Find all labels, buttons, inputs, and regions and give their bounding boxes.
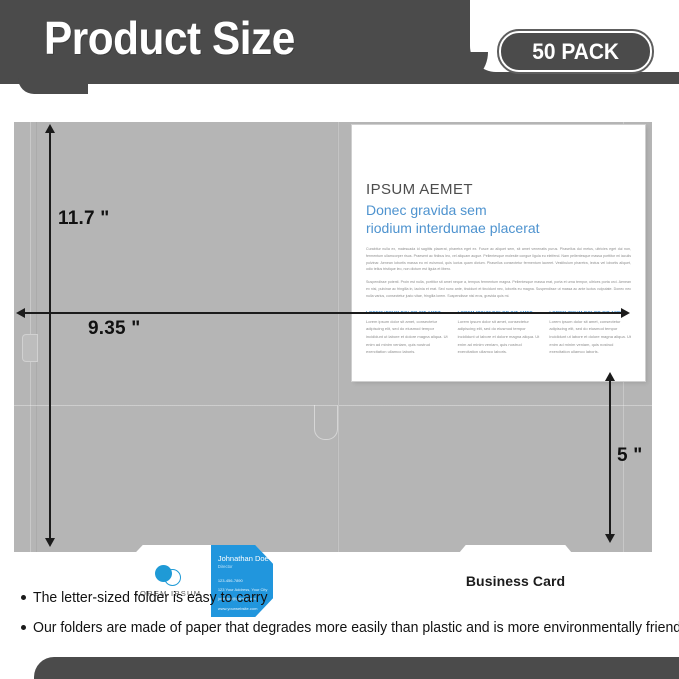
pack-count-label: 50 PACK [532, 39, 619, 65]
feature-bullet-text: Our folders are made of paper that degra… [33, 619, 679, 637]
document-column: LOREM IPSUM DOLOR SIT AMET Lorem ipsum d… [549, 310, 631, 356]
inserted-document: IPSUM AEMET Donec gravida sem riodium in… [352, 125, 645, 381]
bullet-dot-icon [21, 625, 26, 630]
pocket-height-dimension-line [609, 378, 611, 538]
folder-pocket-edge-right [339, 405, 652, 407]
height-dimension-line [49, 130, 51, 542]
document-paragraph: Suspendisse potenti. Proin est nulla, po… [366, 279, 631, 299]
business-card-phone: 123-456-7890 [218, 576, 267, 585]
height-arrow-top-icon [45, 124, 55, 133]
height-dimension-label: 11.7 " [58, 208, 109, 230]
document-column: LOREM IPSUM DOLOR SIT AMET Lorem ipsum d… [366, 310, 448, 356]
document-column-body: Lorem ipsum dolor sit amet, consectetur … [366, 318, 448, 356]
list-item: The letter-sized folder is easy to carry [21, 589, 666, 607]
feature-bullet-list: The letter-sized folder is easy to carry… [21, 589, 666, 649]
business-card-role: Director [218, 564, 267, 569]
folder-pocket-edge-left [14, 405, 337, 407]
pocket-height-dimension-label: 5 " [617, 445, 642, 467]
document-column: LOREM IPSUM DOLOR SIT AMET Lorem ipsum d… [458, 310, 540, 356]
document-column-body: Lorem ipsum dolor sit amet, consectetur … [549, 318, 631, 356]
page-title: Product Size [44, 11, 295, 65]
document-title: IPSUM AEMET [366, 181, 631, 198]
width-arrow-right-icon [621, 308, 630, 318]
header-shoulder [0, 84, 679, 100]
list-item: Our folders are made of paper that degra… [21, 619, 666, 637]
pocket-height-arrow-bottom-icon [605, 534, 615, 543]
business-card-name: Johnathan Doe [218, 554, 267, 563]
folder-center-fold [337, 122, 339, 552]
folder-left-tab [22, 334, 38, 362]
bullet-dot-icon [21, 595, 26, 600]
pack-count-badge: 50 PACK [499, 31, 652, 72]
header-shoulder-curve [18, 78, 88, 94]
width-arrow-left-icon [16, 308, 25, 318]
document-column-body: Lorem ipsum dolor sit amet, consectetur … [458, 318, 540, 356]
footer-bar [34, 657, 679, 679]
circles-logo-icon [155, 565, 181, 585]
document-subtitle-line-2: riodium interdumae placerat [366, 220, 631, 238]
document-paragraph: Curabitur nulla ex, malesuada id sagitti… [366, 246, 631, 273]
document-columns: LOREM IPSUM DOLOR SIT AMET Lorem ipsum d… [366, 310, 631, 356]
width-dimension-line [24, 312, 628, 314]
business-card-slot-text: Business Card [466, 573, 565, 589]
height-arrow-bottom-icon [45, 538, 55, 547]
folder-thumb-notch [314, 405, 338, 440]
document-subtitle-line-1: Donec gravida sem [366, 202, 631, 220]
pocket-height-arrow-top-icon [605, 372, 615, 381]
width-dimension-label: 9.35 " [88, 318, 140, 340]
feature-bullet-text: The letter-sized folder is easy to carry [33, 589, 268, 607]
